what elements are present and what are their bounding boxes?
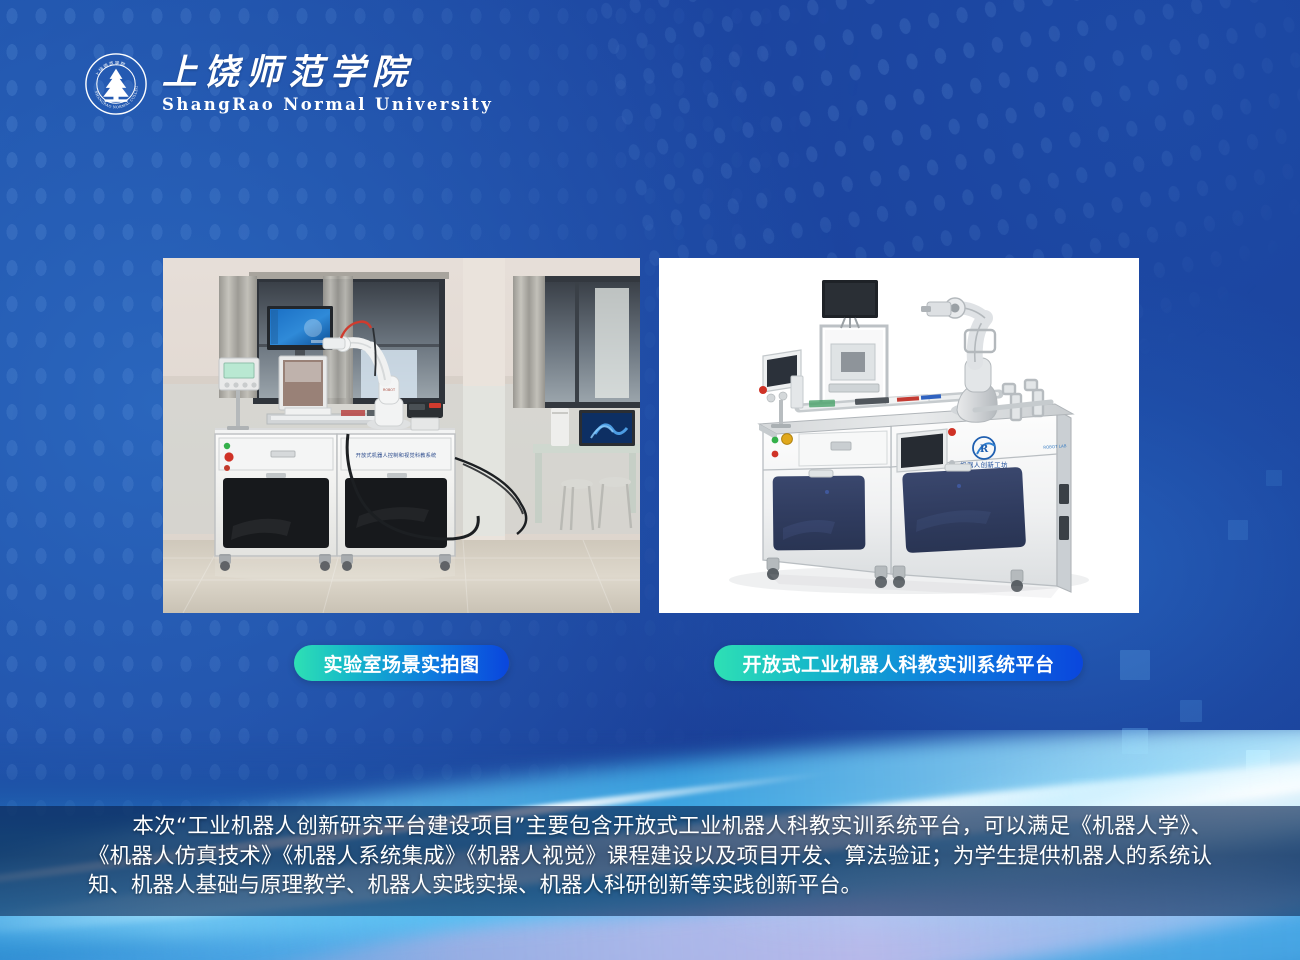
lab-scene-photo: 开放式机器人控制和视觉科教系统	[163, 258, 640, 613]
logo-wordmark: 上饶师范学院 ShangRao Normal University	[162, 54, 493, 114]
product-render-photo: R 机器人创新工坊 ROBOT LAB	[659, 258, 1139, 613]
decorative-square	[1180, 700, 1202, 722]
slide-canvas: 上饶师范学院 SHANGRAO NORMAL COLLEGE 上饶师范学院 Sh…	[0, 0, 1300, 960]
svg-text:上饶师范学院: 上饶师范学院	[94, 60, 127, 78]
svg-text:ROBOT: ROBOT	[383, 388, 396, 392]
paragraph-text: 本次“工业机器人创新研究平台建设项目”主要包含开放式工业机器人科教实训系统平台，…	[88, 814, 1212, 898]
decorative-square	[1120, 650, 1150, 680]
caption-left-label: 实验室场景实拍图	[323, 650, 479, 677]
svg-text:R: R	[980, 444, 989, 455]
svg-text:开放式机器人控制和视觉科教系统: 开放式机器人控制和视觉科教系统	[356, 451, 437, 459]
caption-pill-left[interactable]: 实验室场景实拍图	[294, 645, 509, 681]
logo-name-en: ShangRao Normal University	[162, 95, 493, 114]
decorative-square	[1266, 470, 1282, 486]
caption-right-label: 开放式工业机器人科教实训系统平台	[742, 650, 1054, 677]
caption-pill-right[interactable]: 开放式工业机器人科教实训系统平台	[714, 645, 1083, 681]
university-seal-icon: 上饶师范学院 SHANGRAO NORMAL COLLEGE	[84, 52, 148, 116]
logo-name-cn: 上饶师范学院	[162, 54, 493, 91]
description-paragraph: 本次“工业机器人创新研究平台建设项目”主要包含开放式工业机器人科教实训系统平台，…	[88, 812, 1212, 901]
decorative-square	[1228, 520, 1248, 540]
university-logo: 上饶师范学院 SHANGRAO NORMAL COLLEGE 上饶师范学院 Sh…	[84, 52, 493, 116]
